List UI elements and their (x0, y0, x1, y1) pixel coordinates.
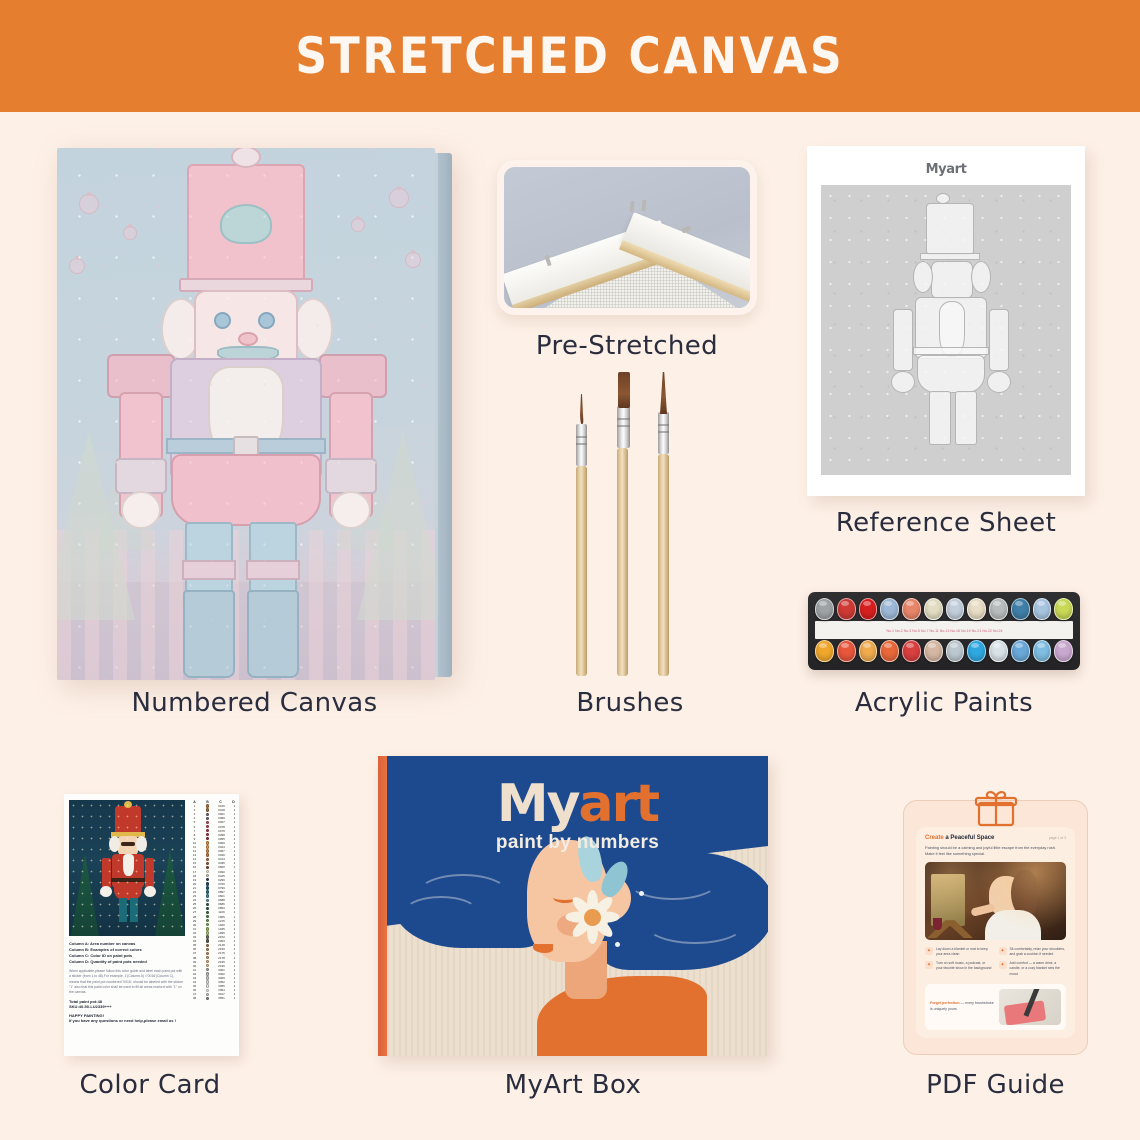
caption-acrylic-paints: Acrylic Paints (808, 688, 1080, 718)
row-color-swatch (202, 907, 213, 910)
tip-icon: ✦ (999, 961, 1007, 969)
row-area-number: 48 (189, 996, 200, 1000)
ref-face (931, 261, 973, 299)
numbered-canvas-image (57, 148, 452, 680)
row-color-swatch (202, 980, 213, 983)
page-header: STRETCHED CANVAS (0, 0, 1140, 112)
paint-pot (902, 640, 921, 662)
brush-ferrule (617, 406, 630, 448)
row-color-swatch (202, 853, 213, 856)
row-color-swatch (202, 866, 213, 869)
daisy-flower-icon (565, 890, 619, 944)
logo-art-text: art (579, 774, 659, 834)
row-color-swatch (202, 845, 213, 848)
row-color-swatch (202, 993, 213, 996)
row-color-swatch (202, 948, 213, 951)
color-card-artwork (69, 800, 185, 936)
row-color-swatch (202, 935, 213, 938)
row-color-swatch (202, 858, 213, 861)
myart-box-image: Myart paint by numbers (378, 756, 768, 1056)
logo-my-text: My (497, 774, 579, 834)
photo-warm-light (925, 862, 1066, 940)
reference-sheet-image: Myart (807, 146, 1085, 496)
pdf-heading-rest: a Peaceful Space (944, 835, 995, 841)
pdf-footer-accent: Forget perfection (930, 1001, 960, 1005)
box-front-face: Myart paint by numbers (387, 756, 768, 1056)
caption-reference-sheet: Reference Sheet (807, 508, 1085, 538)
tip-text: Turn on soft music, a podcast, or your f… (936, 961, 993, 976)
paint-pot (815, 640, 834, 662)
paint-pot (815, 598, 834, 620)
color-card-sku: SKU:40-50-LU2339+++ (69, 1004, 185, 1009)
brush-ferrule (576, 424, 587, 466)
pdf-guide-image: Create a Peaceful Space page 1 of 3 Pain… (903, 800, 1088, 1055)
tip-item: ✦Lay down a blanket or mat to keep your … (925, 947, 993, 957)
ref-hat-brim (920, 253, 980, 260)
row-color-swatch (202, 968, 213, 971)
row-color-swatch (202, 956, 213, 959)
row-quantity: 1 (230, 996, 239, 1000)
pdf-guide-page: Create a Peaceful Space page 1 of 3 Pain… (916, 827, 1075, 1038)
row-color-swatch (202, 886, 213, 889)
tip-text: Sit comfortably, relax your shoulders, a… (1010, 947, 1067, 957)
tip-text: Add comfort — a warm drink, a candle, or… (1010, 961, 1067, 976)
box-spine (378, 756, 387, 1056)
pdf-guide-header: Create a Peaceful Space page 1 of 3 (925, 835, 1066, 841)
pdf-guide-footer: Forget perfection — every brushstroke is… (925, 984, 1066, 1030)
paint-pot (880, 640, 899, 662)
color-card-image: Column A: Area number on canvas Column B… (64, 794, 239, 1056)
color-card-table: A B C D 10016120018130001140080150067160… (189, 800, 239, 1050)
paint-pot (1011, 598, 1030, 620)
row-color-swatch (202, 989, 213, 992)
paint-pot (1033, 640, 1052, 662)
row-color-swatch (202, 841, 213, 844)
paint-row-top (815, 598, 1073, 620)
row-color-swatch (202, 984, 213, 987)
ref-hand-left (891, 371, 915, 393)
color-card-legend: Column A: Area number on canvas Column B… (69, 941, 185, 965)
row-color-swatch (202, 813, 213, 816)
row-color-swatch (202, 919, 213, 922)
row-color-swatch (202, 890, 213, 893)
myart-logo: Myart (387, 774, 768, 834)
paint-row-bottom (815, 640, 1073, 662)
brush-bristles (660, 372, 667, 414)
paint-pot (989, 598, 1008, 620)
brushes-image (560, 382, 700, 678)
paint-tray-label-strip: No.1 No.2 No.3 No.5 No.7 No.11 No.13 No.… (815, 621, 1073, 639)
row-color-id: 3551 (215, 996, 228, 1000)
caption-myart-box: MyArt Box (378, 1070, 768, 1100)
row-color-swatch (202, 808, 213, 811)
ref-skirt (917, 355, 985, 393)
row-color-swatch (202, 903, 213, 906)
row-color-swatch (202, 837, 213, 840)
color-card-left-column: Column A: Area number on canvas Column B… (69, 800, 185, 1050)
cc-sparkles (69, 800, 185, 936)
reference-nutcracker-outline (821, 185, 1071, 475)
tip-text: Lay down a blanket or mat to keep your a… (936, 947, 993, 957)
ref-pompom (936, 193, 950, 204)
ref-arm-right (989, 309, 1009, 371)
row-color-swatch (202, 911, 213, 914)
hair-strand (645, 904, 745, 944)
color-card-table-body: 1001612001813000114008015006716007817007… (189, 804, 239, 1001)
color-card-contact: If you have any questions or need help,p… (69, 1018, 185, 1023)
row-color-swatch (202, 927, 213, 930)
reference-sheet-artwork (821, 185, 1071, 475)
paint-pot (1054, 598, 1073, 620)
paint-pot (946, 598, 965, 620)
row-color-swatch (202, 964, 213, 967)
pdf-guide-photo (925, 862, 1066, 940)
paint-pot (967, 598, 986, 620)
row-color-swatch (202, 899, 213, 902)
color-card-note: When applicable,please follow this color… (69, 969, 185, 995)
canvas-wrapped-edge (435, 153, 452, 677)
paint-pot (902, 598, 921, 620)
ref-hair-right (971, 261, 991, 293)
ref-hand-right (987, 371, 1011, 393)
paint-pot (859, 640, 878, 662)
tip-item: ✦Turn on soft music, a podcast, or your … (925, 961, 993, 976)
row-color-swatch (202, 878, 213, 881)
paint-label-text: No.1 No.2 No.3 No.5 No.7 No.11 No.13 No.… (886, 628, 1002, 633)
hair-strand (403, 896, 479, 930)
tip-icon: ✦ (999, 947, 1007, 955)
pre-stretched-image (497, 160, 757, 315)
brush-ferrule (658, 412, 669, 454)
gift-icon (973, 789, 1019, 827)
row-color-swatch (202, 976, 213, 979)
brush-handle (658, 454, 669, 676)
ref-arm-left (893, 309, 913, 371)
pdf-footer-thumbnail (999, 989, 1061, 1025)
row-color-swatch (202, 894, 213, 897)
row-color-swatch (202, 882, 213, 885)
tip-icon: ✦ (925, 961, 933, 969)
paint-pot (859, 598, 878, 620)
paint-pot (946, 640, 965, 662)
row-color-swatch (202, 849, 213, 852)
caption-color-card: Color Card (30, 1070, 270, 1100)
brush-handle (617, 448, 628, 676)
row-color-swatch (202, 923, 213, 926)
ref-hair-left (913, 261, 933, 293)
acrylic-paints-image: No.1 No.2 No.3 No.5 No.7 No.11 No.13 No.… (808, 592, 1080, 670)
box-tagline: paint by numbers (387, 832, 768, 854)
legend-line-d: Column D: Quantity of paint pots needed (69, 959, 185, 965)
row-color-swatch (202, 821, 213, 824)
ref-belt (913, 347, 989, 355)
pdf-heading-accent: Create (925, 835, 944, 841)
row-color-swatch (202, 939, 213, 942)
ref-hat (926, 203, 974, 255)
paint-pot (880, 598, 899, 620)
row-color-swatch (202, 804, 213, 807)
row-color-swatch (202, 952, 213, 955)
row-color-swatch (202, 829, 213, 832)
brush-handle (576, 466, 587, 676)
caption-brushes: Brushes (500, 688, 760, 718)
paint-pot (1054, 640, 1073, 662)
pdf-page-number: page 1 of 3 (1049, 836, 1066, 840)
row-color-swatch (202, 817, 213, 820)
row-color-swatch (202, 862, 213, 865)
sparkle-dot (639, 891, 644, 896)
reference-sheet-logo: Myart (821, 162, 1071, 177)
pdf-guide-tips: ✦Lay down a blanket or mat to keep your … (925, 947, 1066, 977)
caption-numbered-canvas: Numbered Canvas (57, 688, 452, 718)
paint-pot (924, 598, 943, 620)
brush-bristles (618, 372, 630, 408)
row-color-swatch (202, 833, 213, 836)
row-color-swatch (202, 915, 213, 918)
tip-item: ✦Add comfort — a warm drink, a candle, o… (999, 961, 1067, 976)
row-color-swatch (202, 870, 213, 873)
paint-pot (924, 640, 943, 662)
daisy-center (584, 909, 601, 926)
paint-pot (837, 598, 856, 620)
paint-pot (837, 640, 856, 662)
row-color-swatch (202, 874, 213, 877)
row-color-swatch (202, 997, 213, 1000)
color-card-row: 4835511 (189, 996, 239, 1000)
paint-pot (1033, 598, 1052, 620)
page-title: STRETCHED CANVAS (296, 27, 845, 85)
ref-leg-right (955, 391, 977, 445)
pdf-guide-intro: Painting should be a calming and joyful … (925, 845, 1066, 857)
canvas-front-face (57, 148, 435, 680)
row-color-swatch (202, 972, 213, 975)
paint-pot (989, 640, 1008, 662)
pdf-footer-text: Forget perfection — every brushstroke is… (930, 1001, 994, 1012)
caption-pdf-guide: PDF Guide (903, 1070, 1088, 1100)
pdf-guide-heading: Create a Peaceful Space (925, 835, 994, 841)
row-color-swatch (202, 825, 213, 828)
row-color-swatch (202, 960, 213, 963)
canvas-sparkle-overlay (57, 148, 435, 680)
row-color-swatch (202, 931, 213, 934)
tip-icon: ✦ (925, 947, 933, 955)
paint-pot (967, 640, 986, 662)
ref-leg-left (929, 391, 951, 445)
brush-bristles (580, 394, 584, 424)
caption-pre-stretched: Pre-Stretched (497, 331, 757, 361)
paint-pot (1011, 640, 1030, 662)
tip-item: ✦Sit comfortably, relax your shoulders, … (999, 947, 1067, 957)
row-color-swatch (202, 944, 213, 947)
